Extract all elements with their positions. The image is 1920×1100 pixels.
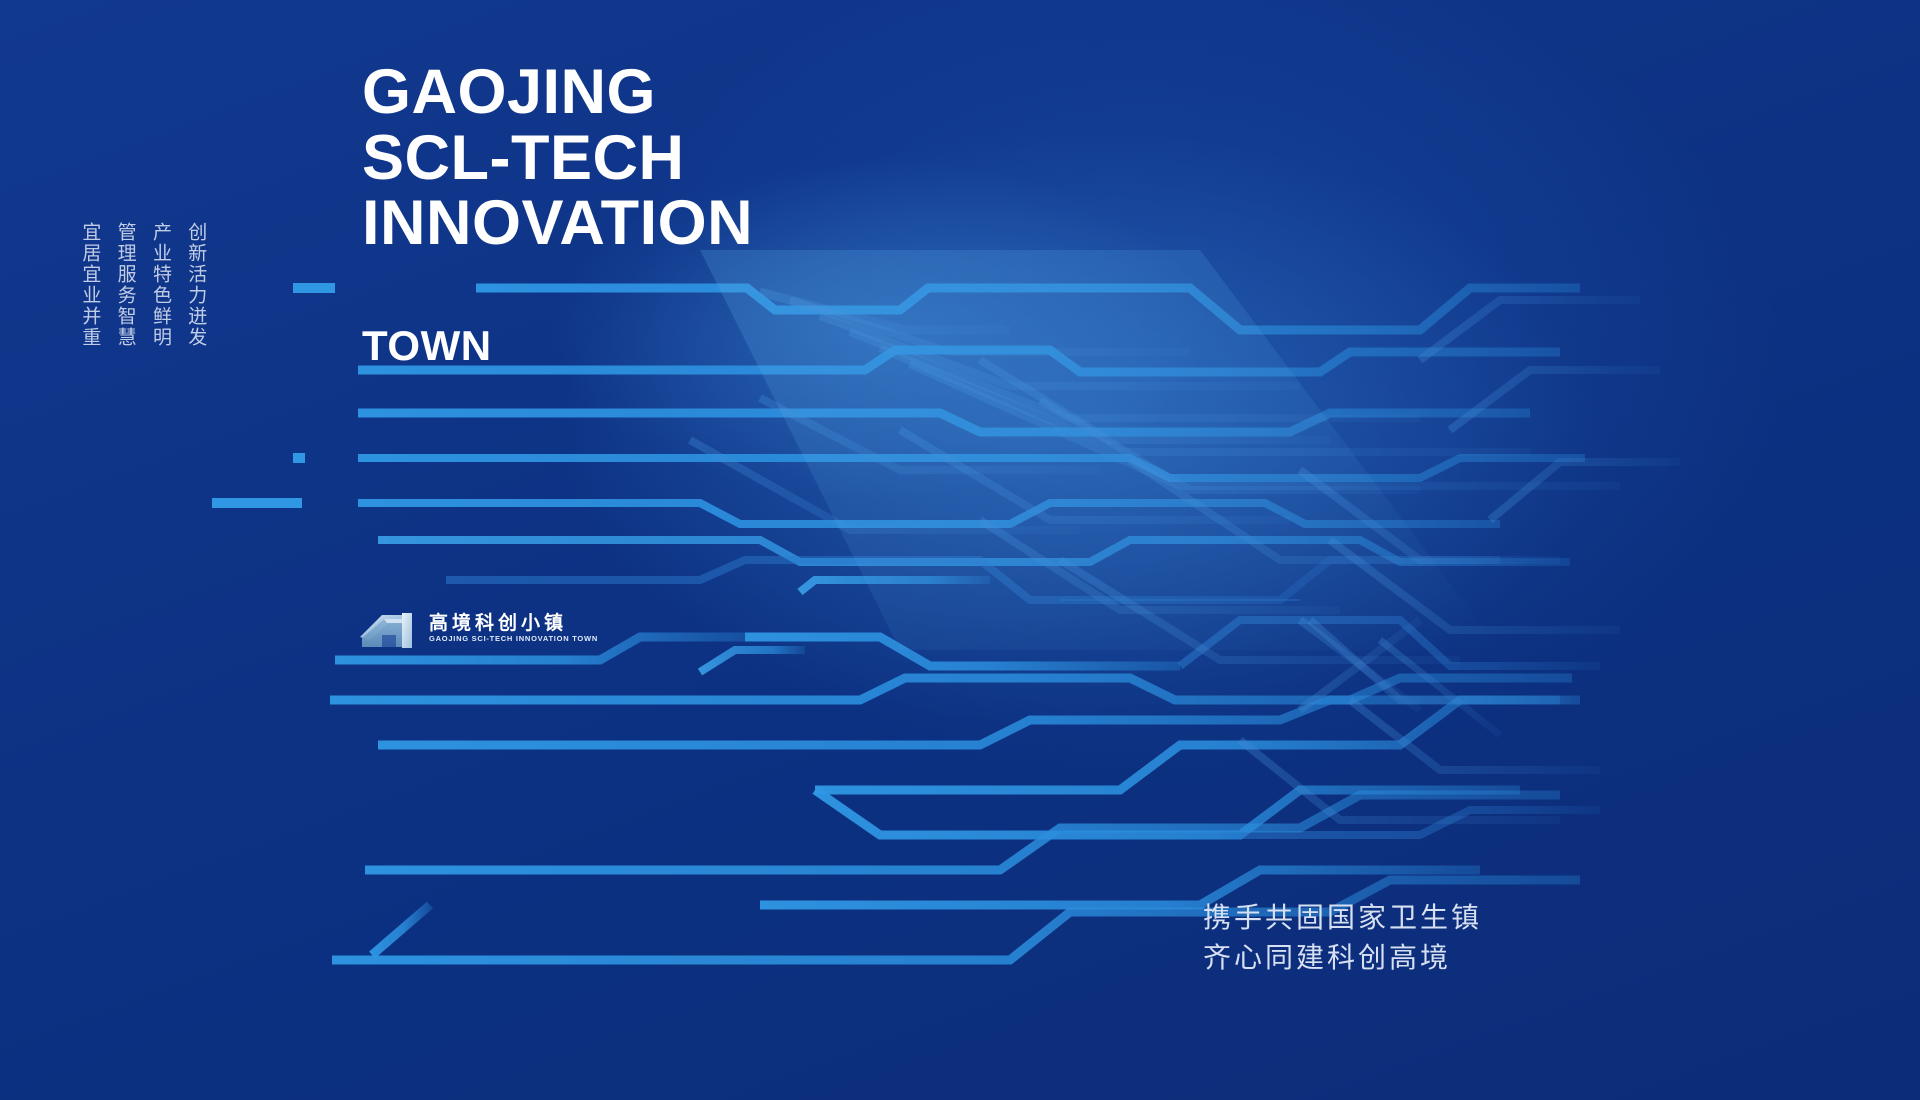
dash-mark-3 (212, 498, 302, 508)
logo-english-name: GAOJING SCI-TECH INNOVATION TOWN (429, 636, 598, 644)
vertical-slogan: 创新活力迸发 产业特色鲜明 管理服务智慧 宜居宜业并重 (78, 222, 208, 348)
logo: 高境科创小镇 GAOJING SCI-TECH INNOVATION TOWN (358, 607, 598, 651)
page-title: GAOJING SCL-TECH INNOVATION (362, 60, 753, 257)
vertical-slogan-column-1: 创新活力迸发 (184, 222, 208, 348)
dash-mark-1 (293, 283, 335, 293)
bottom-slogan-line-1: 携手共固国家卫生镇 (1203, 898, 1482, 938)
house-roof-icon (358, 607, 420, 651)
bottom-slogan: 携手共固国家卫生镇 齐心同建科创高境 (1203, 898, 1482, 978)
circuit-pattern-background (0, 0, 1920, 1100)
poster-canvas: 创新活力迸发 产业特色鲜明 管理服务智慧 宜居宜业并重 GAOJING SCL-… (0, 0, 1920, 1100)
headline-line-2: SCL-TECH (362, 126, 753, 192)
vertical-slogan-column-4: 宜居宜业并重 (78, 222, 102, 348)
headline-line-4: TOWN (362, 325, 492, 367)
logo-chinese-name: 高境科创小镇 (429, 614, 598, 634)
headline-line-1: GAOJING (362, 60, 753, 126)
headline-line-3: INNOVATION (362, 191, 753, 257)
dash-mark-2 (293, 453, 305, 463)
bottom-slogan-line-2: 齐心同建科创高境 (1203, 938, 1482, 978)
logo-text-block: 高境科创小镇 GAOJING SCI-TECH INNOVATION TOWN (429, 614, 598, 643)
vertical-slogan-column-2: 产业特色鲜明 (149, 222, 173, 348)
vertical-slogan-column-3: 管理服务智慧 (113, 222, 137, 348)
